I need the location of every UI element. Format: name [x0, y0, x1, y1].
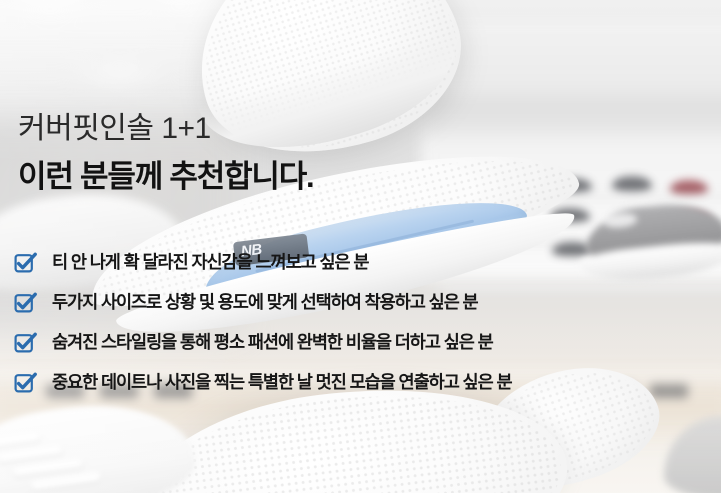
banner-text-overlay: 커버핏인솔 1+1 이런 분들께 추천합니다. 티 안 나게 확 달라진 자신감… — [0, 0, 721, 493]
checkbox-checked-icon — [14, 371, 38, 395]
checklist-item: 두가지 사이즈로 상황 및 용도에 맞게 선택하여 착용하고 싶은 분 — [14, 283, 512, 323]
product-promo-banner: NB 커버핏인솔 1+1 이런 분들께 추천합니다. — [0, 0, 721, 493]
promo-eyebrow-title: 커버핏인솔 1+1 — [18, 114, 211, 144]
checklist-item-label: 숨겨진 스타일링을 통해 평소 패션에 완벽한 비율을 더하고 싶은 분 — [52, 334, 493, 352]
checklist-item-label: 두가지 사이즈로 상황 및 용도에 맞게 선택하여 착용하고 싶은 분 — [52, 294, 478, 312]
promo-headline: 이런 분들께 추천합니다. — [18, 161, 313, 192]
checklist-item: 티 안 나게 확 달라진 자신감을 느껴보고 싶은 분 — [14, 243, 512, 283]
checkbox-checked-icon — [14, 331, 38, 355]
checklist-item-label: 중요한 데이트나 사진을 찍는 특별한 날 멋진 모습을 연출하고 싶은 분 — [52, 374, 512, 392]
checklist-item: 숨겨진 스타일링을 통해 평소 패션에 완벽한 비율을 더하고 싶은 분 — [14, 323, 512, 363]
checklist-item: 중요한 데이트나 사진을 찍는 특별한 날 멋진 모습을 연출하고 싶은 분 — [14, 363, 512, 403]
checkbox-checked-icon — [14, 251, 38, 275]
checkbox-checked-icon — [14, 291, 38, 315]
recommendation-checklist: 티 안 나게 확 달라진 자신감을 느껴보고 싶은 분 두가지 사이즈로 상황 … — [14, 243, 512, 403]
checklist-item-label: 티 안 나게 확 달라진 자신감을 느껴보고 싶은 분 — [52, 254, 368, 272]
